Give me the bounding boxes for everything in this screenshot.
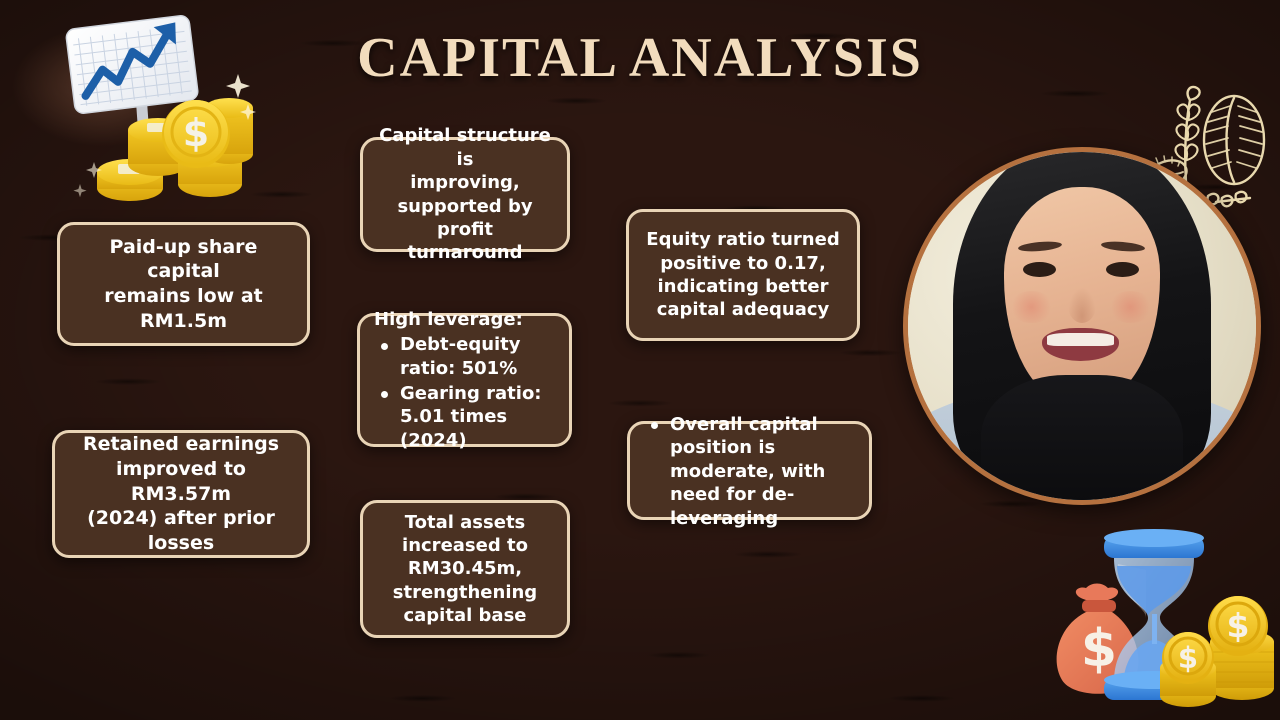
presenter-cheek-right [1108,291,1153,322]
presenter-hijab-drape [981,375,1183,505]
high-leverage-box: High leverage: Debt-equity ratio: 501% G… [357,313,572,447]
equity-line-3: indicating better [643,275,843,298]
structure-line-3: supported by profit [377,195,553,242]
presenter-mouth [1042,328,1119,361]
svg-text:$: $ [1227,606,1250,645]
presenter-teeth [1047,333,1114,346]
leverage-bullet-list: Debt-equity ratio: 501% Gearing ratio: 5… [374,333,555,452]
structure-line-2: improving, [377,171,553,194]
assets-line-4: strengthening [377,581,553,604]
svg-text:$: $ [1081,619,1117,679]
hourglass-moneybag-coins-icon: $ [1042,518,1280,720]
overall-bullet-list: Overall capital position is moderate, wi… [644,413,855,530]
presenter-cheek-left [1009,291,1054,322]
presentation-slide: CAPITAL ANALYSIS [0,0,1280,720]
assets-line-5: capital base [377,604,553,627]
total-assets-box: Total assets increased to RM30.45m, stre… [360,500,570,638]
growth-chart-and-coins-icon: $ [62,12,258,208]
presenter-eye-right [1106,262,1139,277]
retained-line-2: improved to RM3.57m [69,457,293,506]
equity-line-1: Equity ratio turned [643,228,843,251]
overall-capital-position-box: Overall capital position is moderate, wi… [627,421,872,520]
paid-up-share-capital-box: Paid-up share capital remains low at RM1… [57,222,310,346]
assets-line-1: Total assets [377,511,553,534]
presenter-video-circle[interactable] [903,147,1261,505]
structure-line-1: Capital structure is [377,124,553,171]
leverage-bullet-2: Gearing ratio: 5.01 times (2024) [374,382,555,452]
leverage-heading: High leverage: [374,308,555,331]
webcam-feed [908,152,1256,500]
assets-line-3: RM30.45m, [377,557,553,580]
retained-line-1: Retained earnings [69,432,293,457]
leverage-bullet-1: Debt-equity ratio: 501% [374,333,555,380]
equity-line-4: capital adequacy [643,298,843,321]
equity-ratio-box: Equity ratio turned positive to 0.17, in… [626,209,860,341]
svg-text:$: $ [183,111,209,155]
presenter-eye-left [1023,262,1056,277]
capital-structure-box: Capital structure is improving, supporte… [360,137,570,252]
equity-line-2: positive to 0.17, [643,252,843,275]
overall-bullet-1: Overall capital position is moderate, wi… [644,413,855,530]
paid-up-line-2: remains low at RM1.5m [74,284,293,333]
svg-text:$: $ [1178,641,1198,675]
assets-line-2: increased to [377,534,553,557]
retained-earnings-box: Retained earnings improved to RM3.57m (2… [52,430,310,558]
paid-up-line-1: Paid-up share capital [74,235,293,284]
retained-line-3: (2024) after prior losses [69,506,293,555]
structure-line-4: turnaround [377,241,553,264]
presenter-nose [1068,288,1096,323]
